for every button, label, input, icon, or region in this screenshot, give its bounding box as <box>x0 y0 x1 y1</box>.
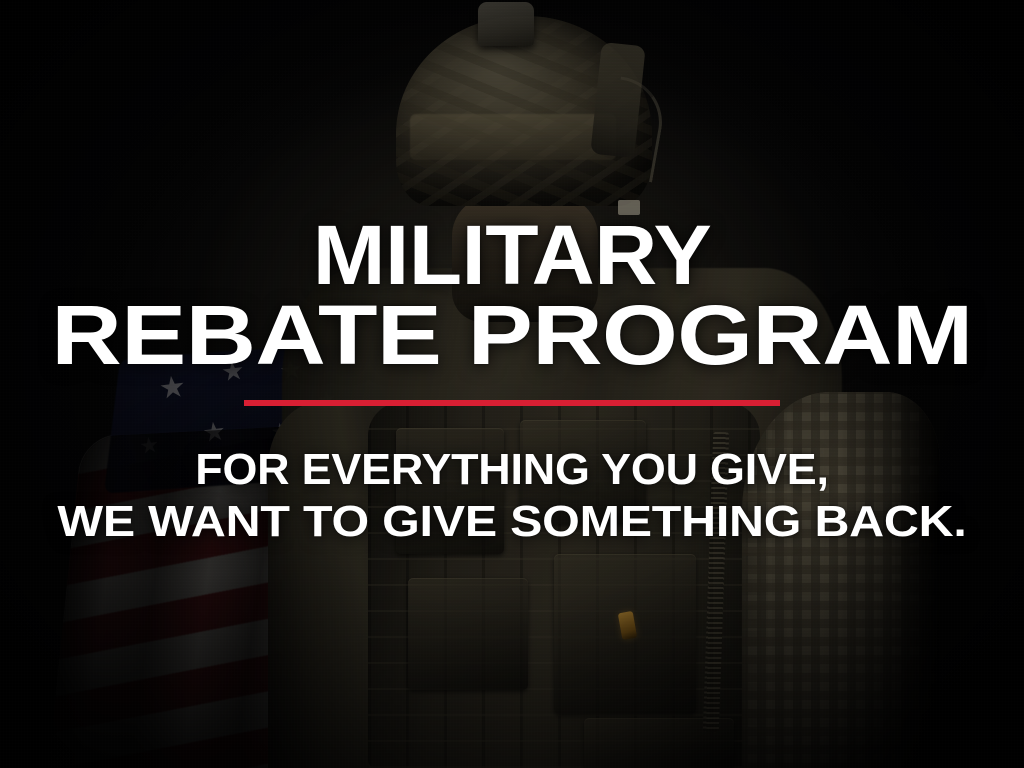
right-arm-camo-sleeve <box>742 392 940 768</box>
neck-and-face-shadow <box>452 196 598 322</box>
vest-pouch <box>408 578 528 690</box>
plate-carrier-vest <box>368 402 760 768</box>
nvg-mount-icon <box>478 2 534 46</box>
soldier-figure <box>0 0 1024 768</box>
vest-pouch <box>396 428 504 554</box>
helmet-id-label <box>618 200 640 215</box>
poster-canvas: MILITARY REBATE PROGRAM FOR EVERYTHING Y… <box>0 0 1024 768</box>
right-arm-shading <box>742 392 940 768</box>
vest-pouch <box>520 420 646 524</box>
helmet-velcro-band <box>410 114 616 160</box>
background-photo <box>0 0 1024 768</box>
